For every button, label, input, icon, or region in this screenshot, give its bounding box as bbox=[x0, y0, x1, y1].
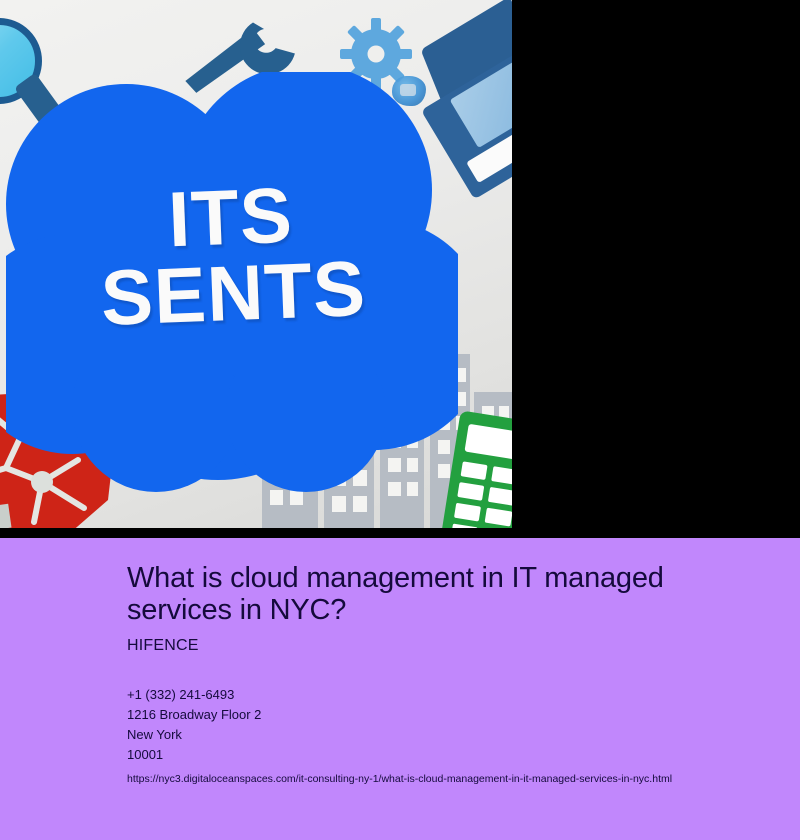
contact-street: 1216 Broadway Floor 2 bbox=[127, 705, 767, 725]
info-panel-content: What is cloud management in IT managed s… bbox=[127, 562, 767, 785]
brand-label: HIFENCE bbox=[127, 637, 767, 655]
source-url[interactable]: https://nyc3.digitaloceanspaces.com/it-c… bbox=[127, 773, 767, 785]
contact-city: New York bbox=[127, 725, 767, 745]
contact-block: +1 (332) 241-6493 1216 Broadway Floor 2 … bbox=[127, 685, 767, 766]
info-panel: What is cloud management in IT managed s… bbox=[0, 538, 800, 840]
page-title: What is cloud management in IT managed s… bbox=[127, 562, 767, 627]
hero-image: ITS SENTS bbox=[0, 0, 512, 528]
contact-zip: 10001 bbox=[127, 745, 767, 765]
cloud-shape: ITS SENTS bbox=[6, 72, 458, 492]
cloud-text: ITS SENTS bbox=[3, 171, 460, 340]
page-root: ITS SENTS What is cloud management in IT… bbox=[0, 0, 800, 840]
contact-phone: +1 (332) 241-6493 bbox=[127, 685, 767, 705]
